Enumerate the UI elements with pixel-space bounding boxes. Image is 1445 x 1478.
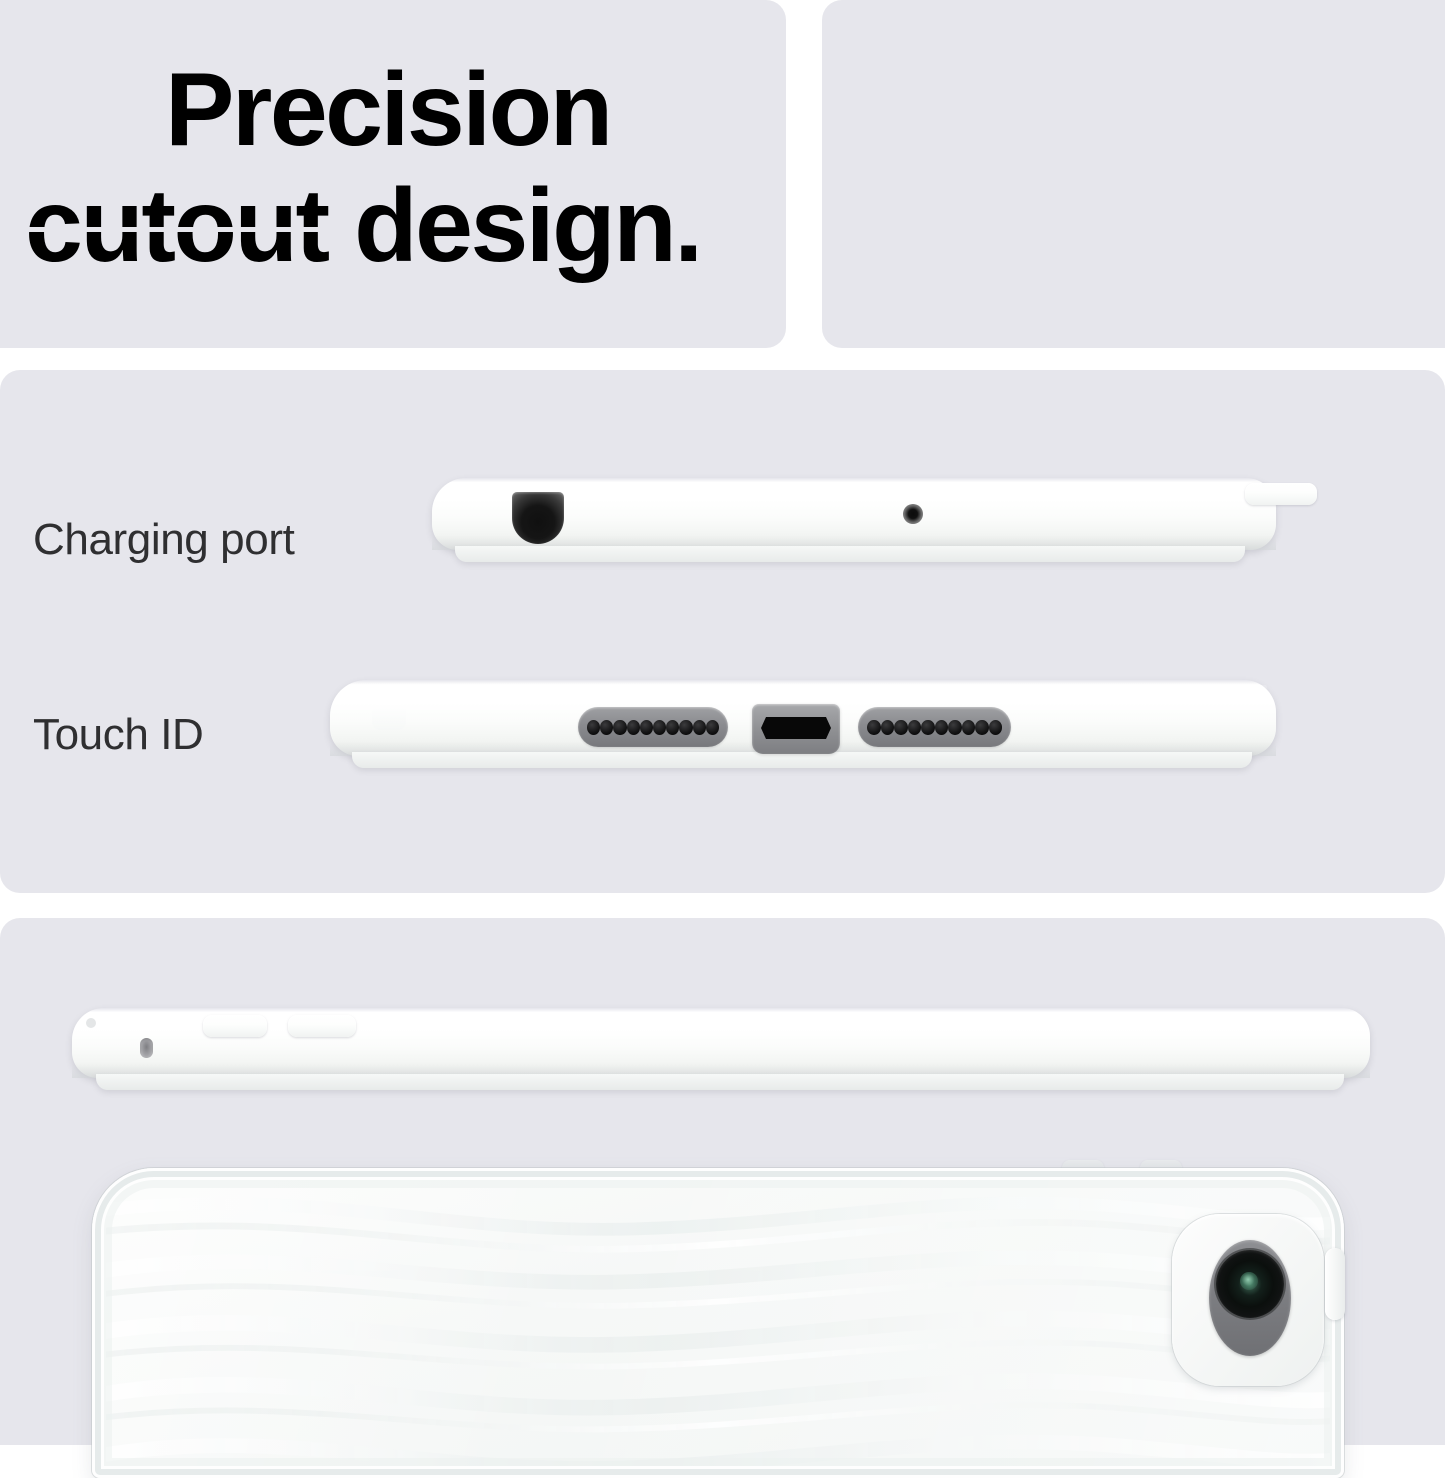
edge-corner-dot [86, 1018, 96, 1028]
page-title: Precision cutout design. [165, 52, 765, 285]
power-button-cover [1325, 1248, 1345, 1320]
clear-wavy-tablet-case-back [92, 1168, 1344, 1478]
power-button [1245, 483, 1317, 505]
speaker-grille-left-icon [578, 707, 728, 747]
lens-glint [1240, 1272, 1258, 1290]
headline-line-1: Precision [165, 52, 765, 168]
label-charging-port: Charging port [33, 515, 294, 565]
volume-up-button [203, 1015, 267, 1037]
headphone-jack-cutout-icon [512, 492, 564, 544]
tablet-bottom-edge-lip [352, 752, 1252, 768]
headline-line-2: cutout design. [25, 168, 765, 284]
charging-port-cutout-icon [752, 704, 840, 754]
speaker-grille-right-icon [858, 707, 1011, 747]
side-microphone-hole-icon [140, 1038, 153, 1058]
label-touch-id: Touch ID [33, 710, 203, 760]
subtext-panel: Precise cutouts enable easy accessibilit… [822, 0, 1445, 348]
edge-highlight [372, 704, 406, 730]
case-outer-rim [92, 1168, 1344, 1478]
tablet-top-edge-lip [455, 546, 1245, 562]
headline-cut-word-text: cutout [25, 168, 328, 284]
ports-panel [0, 370, 1445, 893]
headline-panel: Precision cutout design. [0, 0, 786, 348]
charging-port-slot [761, 717, 831, 739]
camera-lens-icon [1216, 1250, 1284, 1318]
volume-down-button [288, 1015, 356, 1037]
headline-line-2-suffix: design. [328, 168, 701, 284]
tablet-side-edge-image [72, 1008, 1370, 1078]
headline-cut-word: cutout [25, 168, 328, 284]
tablet-side-edge-lip [96, 1074, 1344, 1090]
microphone-hole-icon [903, 504, 923, 524]
